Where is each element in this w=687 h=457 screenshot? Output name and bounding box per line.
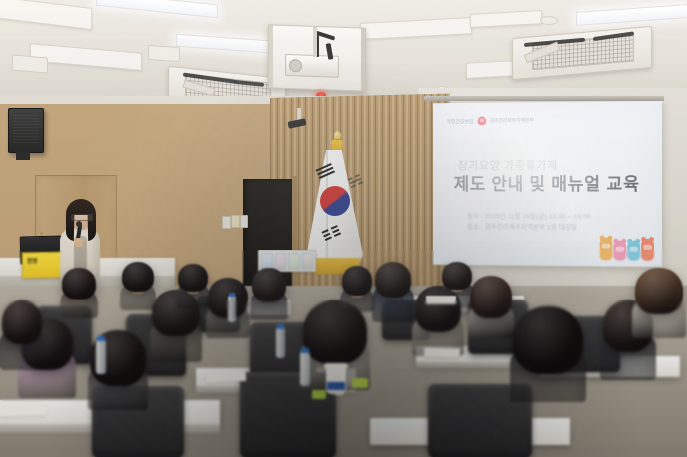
slide-mascots — [600, 238, 654, 261]
projector-bracket — [361, 29, 365, 91]
projector-enclosure — [268, 24, 366, 91]
projection-screen: 국민건강보험 광주전라제주지역본부 장기요양 가족휴가제 제도 안내 및 매뉴얼… — [433, 101, 662, 267]
handout-paper — [426, 296, 456, 304]
projector-bracket — [313, 27, 317, 57]
projector-lens-icon — [289, 59, 302, 72]
handout-paper — [0, 403, 46, 417]
person-hair — [122, 262, 154, 292]
person-hair — [635, 268, 683, 314]
ceiling-vent — [12, 54, 48, 73]
bottle-cap — [301, 348, 309, 353]
yellow-sign-text: 환영 — [27, 256, 37, 265]
cup-lid — [324, 363, 348, 369]
presenter-hand — [74, 238, 83, 247]
slide-detail-datetime: 일시 : 2025년 11월 28일(금) 13:30 ~ 16:00 — [467, 210, 591, 220]
mascot-pink-icon — [613, 241, 626, 261]
water-bottle — [228, 296, 236, 322]
slide-logo: 국민건강보험 광주전라제주지역본부 — [446, 116, 534, 125]
mascot-orange-icon — [600, 238, 613, 261]
glasses-icon — [71, 214, 93, 221]
bottle-cap — [229, 293, 235, 297]
heart-icon — [477, 116, 486, 125]
screen-mount-bar — [424, 96, 664, 101]
person-hair — [470, 276, 512, 318]
slide-logo-text: 국민건강보험 — [446, 117, 473, 125]
audience-person — [120, 262, 156, 310]
audience-person — [60, 268, 98, 318]
light-switch[interactable] — [240, 215, 248, 228]
person-hair — [342, 266, 372, 296]
person-hair — [513, 306, 583, 374]
projector-bracket — [269, 25, 273, 87]
handout-paper — [206, 371, 246, 383]
bottle-cap — [97, 336, 105, 341]
audience-person — [632, 268, 686, 338]
slide-logo-subtext: 광주전라제주지역본부 — [490, 117, 534, 124]
green-item — [352, 378, 368, 388]
person-hair — [62, 268, 96, 300]
cup-band — [327, 382, 345, 390]
audience-person — [250, 268, 288, 320]
wall-speaker — [8, 108, 44, 153]
ceiling-light-panel — [96, 0, 218, 18]
yellow-sign: 환영 — [22, 252, 64, 279]
brochure — [302, 253, 314, 269]
brochure — [261, 253, 273, 269]
person-hair — [442, 262, 472, 290]
speaker-bracket — [16, 151, 30, 160]
slide-detail-location: 장소 : 광주전라제주지역본부 1층 대강당 — [467, 221, 577, 231]
seminar-room-photo: 국민건강보험 광주전라제주지역본부 장기요양 가족휴가제 제도 안내 및 매뉴얼… — [0, 0, 687, 457]
water-bottle — [276, 328, 285, 358]
ceiling-panel — [0, 0, 92, 30]
person-hair — [375, 262, 411, 298]
coffee-cup — [326, 366, 346, 394]
light-switch[interactable] — [231, 215, 240, 228]
water-bottle — [300, 352, 310, 386]
handout-paper — [424, 347, 460, 357]
audience-person — [176, 264, 210, 308]
audience-person — [340, 266, 374, 312]
ceiling-panel — [360, 17, 472, 40]
light-switch[interactable] — [222, 216, 231, 229]
mascot-blue-icon — [627, 241, 640, 261]
audience-person — [468, 276, 514, 338]
water-bottle — [96, 340, 106, 374]
door-frame — [292, 176, 297, 292]
mascot-red-icon — [641, 239, 654, 261]
smoke-detector-icon — [540, 16, 558, 25]
audience-person — [372, 262, 414, 322]
brochure — [275, 253, 287, 269]
slide-title: 제도 안내 및 매뉴얼 교육 — [454, 171, 640, 196]
person-hair — [178, 264, 208, 292]
green-item — [312, 390, 326, 399]
microphone-head-icon — [76, 221, 82, 227]
ceiling-panel — [470, 10, 542, 28]
brochure — [288, 253, 300, 269]
audience-person — [510, 306, 586, 402]
person-hair — [252, 268, 286, 302]
person-hair — [2, 300, 42, 344]
ceiling-vent — [148, 45, 180, 62]
audience-person — [0, 300, 44, 370]
ceiling-light-panel — [576, 4, 687, 26]
bottle-cap — [277, 324, 284, 329]
